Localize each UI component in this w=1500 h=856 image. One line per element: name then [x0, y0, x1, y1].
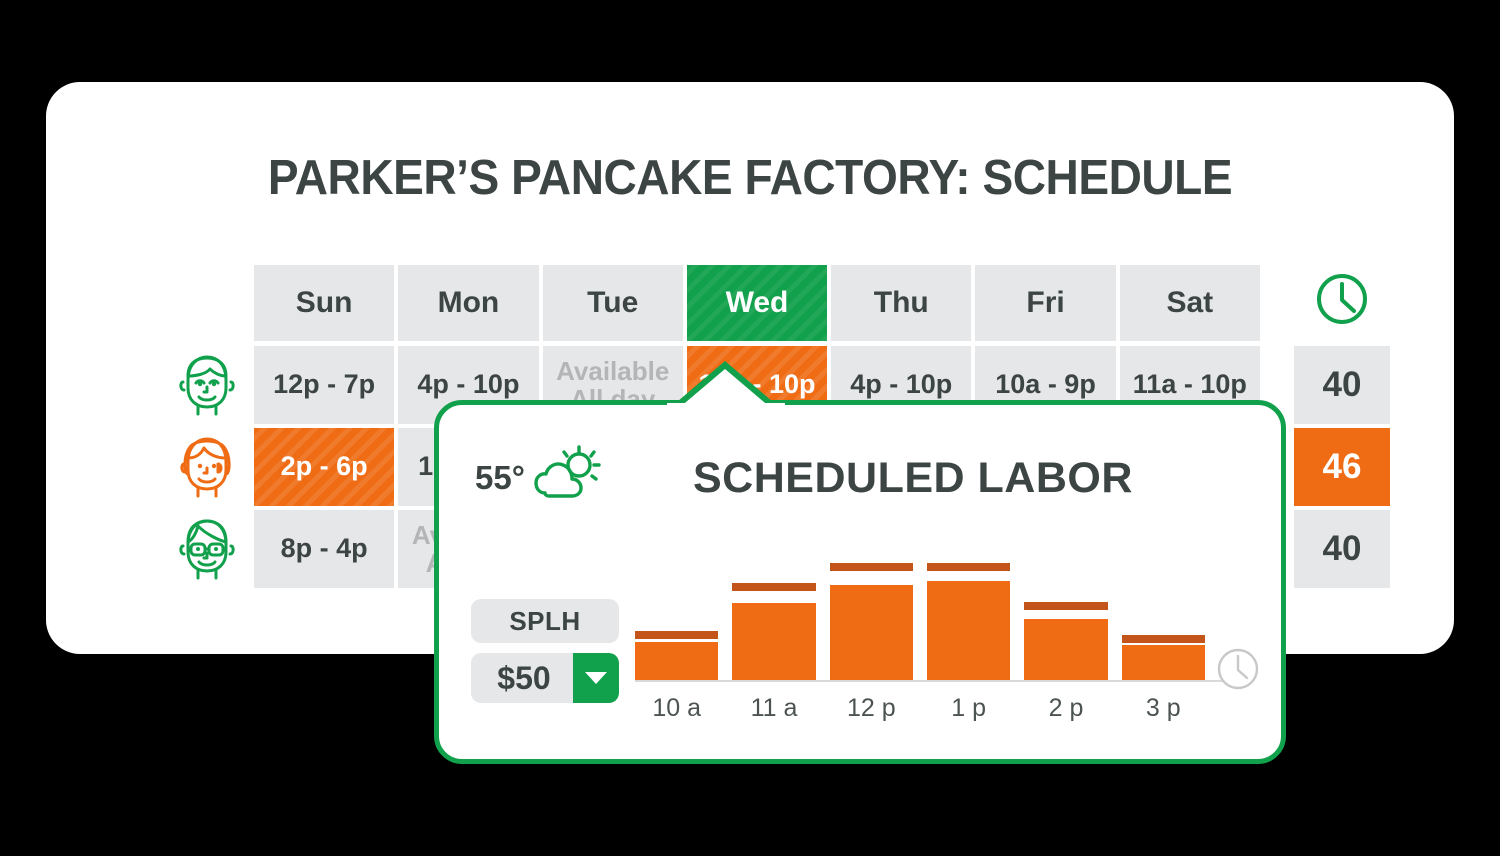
clock-icon [1215, 646, 1261, 697]
chart-bars [635, 551, 1205, 681]
weather-widget: 55° [475, 443, 609, 514]
bar-column[interactable] [1024, 551, 1107, 681]
totals-header [1294, 265, 1390, 341]
bar-target-cap [830, 563, 913, 571]
bar-target-cap [635, 631, 718, 639]
popup-pointer-mask [667, 403, 785, 413]
bar-value [830, 585, 913, 681]
bar-target-cap [732, 583, 815, 591]
bar-column[interactable] [830, 551, 913, 681]
avatar-glasses-green[interactable] [160, 510, 254, 588]
day-header-mon[interactable]: Mon [398, 265, 538, 341]
shift-cell[interactable]: 8p - 4p [254, 510, 394, 588]
header-avatar-spacer [160, 265, 254, 341]
axis-tick-label: 11 a [732, 694, 815, 723]
labor-target-value: $50 [471, 660, 573, 697]
bar-value [1024, 619, 1107, 681]
bar-target-cap [927, 563, 1010, 571]
scheduled-labor-chart: 10 a 11 a 12 p 1 p 2 p 3 p [635, 527, 1235, 727]
popup-header: 55° SCHEDULED LA [439, 441, 1281, 515]
chart-axis-labels: 10 a 11 a 12 p 1 p 2 p 3 p [635, 694, 1205, 723]
bar-value [732, 603, 815, 681]
popup-title: SCHEDULED LABOR [609, 454, 1281, 503]
day-header-wed[interactable]: Wed [687, 265, 827, 341]
employee-total-hours: 46 [1294, 428, 1390, 506]
employee-total-hours: 40 [1294, 510, 1390, 588]
shift-cell[interactable]: 12p - 7p [254, 346, 394, 424]
bar-target-cap [1122, 635, 1205, 643]
weather-temperature: 55° [475, 459, 525, 497]
bar-value [635, 642, 718, 681]
bar-value [1122, 645, 1205, 681]
page-title: PARKER’S PANCAKE FACTORY: SCHEDULE [88, 150, 1412, 206]
day-header-tue[interactable]: Tue [543, 265, 683, 341]
clock-icon [1314, 271, 1370, 336]
employee-total-hours: 40 [1294, 346, 1390, 424]
chart-axis-line [635, 680, 1231, 682]
totals-gap [1264, 265, 1294, 341]
day-header-sun[interactable]: Sun [254, 265, 394, 341]
bar-column[interactable] [1122, 551, 1205, 681]
schedule-header-row: Sun Mon Tue Wed Thu Fri Sat [160, 265, 1390, 341]
day-header-fri[interactable]: Fri [975, 265, 1115, 341]
chart-controls: SPLH $50 [471, 599, 619, 703]
shift-cell[interactable]: 2p - 6p [254, 428, 394, 506]
avatar-male-green[interactable] [160, 346, 254, 424]
splh-badge[interactable]: SPLH [471, 599, 619, 643]
scheduled-labor-popup: 55° SCHEDULED LA [434, 400, 1286, 764]
bar-column[interactable] [927, 551, 1010, 681]
axis-tick-label: 3 p [1122, 694, 1205, 723]
axis-tick-label: 12 p [830, 694, 913, 723]
bar-target-cap [1024, 602, 1107, 610]
partly-cloudy-icon [531, 443, 609, 514]
bar-column[interactable] [635, 551, 718, 681]
day-header-sat[interactable]: Sat [1120, 265, 1260, 341]
screenshot-root: PARKER’S PANCAKE FACTORY: SCHEDULE Sun M… [0, 0, 1500, 856]
day-header-thu[interactable]: Thu [831, 265, 971, 341]
avatar-female-orange[interactable] [160, 428, 254, 506]
axis-tick-label: 1 p [927, 694, 1010, 723]
labor-target-select[interactable]: $50 [471, 653, 619, 703]
axis-tick-label: 2 p [1024, 694, 1107, 723]
bar-column[interactable] [732, 551, 815, 681]
bar-value [927, 581, 1010, 681]
chevron-down-icon[interactable] [573, 653, 619, 703]
axis-tick-label: 10 a [635, 694, 718, 723]
